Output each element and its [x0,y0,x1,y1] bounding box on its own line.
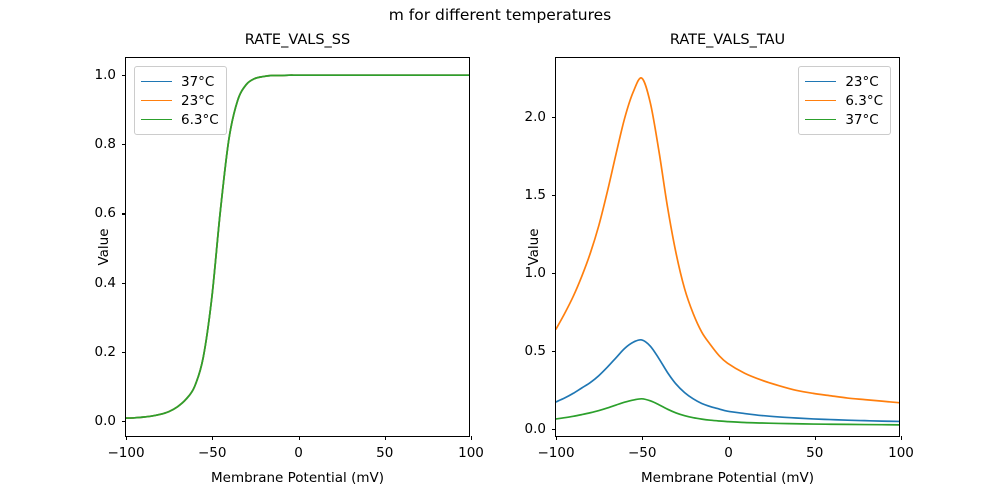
legend-label: 23°C [181,93,214,109]
y-tick-mark [122,352,126,353]
x-tick-mark [815,436,816,440]
legend-label: 37°C [181,74,214,90]
y-tick-label: 0.4 [95,275,116,291]
legend-line-swatch-icon [805,100,836,101]
y-tick-mark [122,144,126,145]
x-tick-label: 50 [376,445,393,461]
xlabel-right: Membrane Potential (mV) [556,470,899,486]
y-tick-label: 0.6 [95,205,116,221]
legend-label: 37°C [845,112,878,128]
figure-suptitle: m for different temperatures [0,6,1000,24]
legend-label: 6.3°C [181,112,219,128]
x-tick-label: 100 [888,445,914,461]
x-tick-label: 0 [724,445,733,461]
legend-label: 23°C [845,74,878,90]
x-tick-mark [126,436,127,440]
y-tick-mark [122,213,126,214]
y-tick-label: 1.5 [525,187,546,203]
xlabel-left: Membrane Potential (mV) [126,470,469,486]
axes-rate-vals-ss: RATE_VALS_SS Membrane Potential (mV) Val… [125,57,470,437]
legend-right: 23°C6.3°C37°C [798,66,891,135]
legend-line-swatch-icon [141,119,172,120]
legend-entry: 37°C [805,110,883,129]
x-tick-mark [299,436,300,440]
legend-entry: 23°C [141,91,219,110]
y-tick-label: 0.0 [525,421,546,437]
y-tick-label: 1.0 [525,265,546,281]
x-tick-mark [385,436,386,440]
y-tick-label: 2.0 [525,109,546,125]
y-tick-mark [552,195,556,196]
y-tick-label: 0.2 [95,344,116,360]
y-tick-mark [552,117,556,118]
legend-entry: 23°C [805,72,883,91]
y-tick-mark [552,351,556,352]
ylabel-right: Value [526,197,542,297]
legend-left: 37°C23°C6.3°C [134,66,227,135]
x-tick-label: 50 [806,445,823,461]
legend-entry: 6.3°C [805,91,883,110]
legend-line-swatch-icon [805,81,836,82]
x-tick-label: −50 [198,445,227,461]
axes-title-left: RATE_VALS_SS [126,32,469,48]
x-tick-mark [642,436,643,440]
legend-line-swatch-icon [141,81,172,82]
y-tick-label: 0.5 [525,343,546,359]
legend-line-swatch-icon [141,100,172,101]
y-tick-label: 0.8 [95,136,116,152]
legend-label: 6.3°C [845,93,883,109]
legend-entry: 37°C [141,72,219,91]
legend-line-swatch-icon [805,119,836,120]
y-tick-mark [122,283,126,284]
y-tick-label: 0.0 [95,413,116,429]
x-tick-mark [471,436,472,440]
series-line-23C [556,340,899,422]
x-tick-label: −100 [537,445,574,461]
x-tick-label: −100 [107,445,144,461]
x-tick-label: 100 [458,445,484,461]
x-tick-mark [729,436,730,440]
x-tick-mark [212,436,213,440]
axes-rate-vals-tau: RATE_VALS_TAU Membrane Potential (mV) Va… [555,57,900,437]
y-tick-mark [122,421,126,422]
matplotlib-figure: m for different temperatures RATE_VALS_S… [0,0,1000,500]
x-tick-mark [901,436,902,440]
y-tick-mark [552,429,556,430]
x-tick-label: −50 [628,445,657,461]
y-tick-mark [122,75,126,76]
x-tick-label: 0 [294,445,303,461]
y-tick-label: 1.0 [95,67,116,83]
axes-title-right: RATE_VALS_TAU [556,32,899,48]
y-tick-mark [552,273,556,274]
legend-entry: 6.3°C [141,110,219,129]
x-tick-mark [556,436,557,440]
